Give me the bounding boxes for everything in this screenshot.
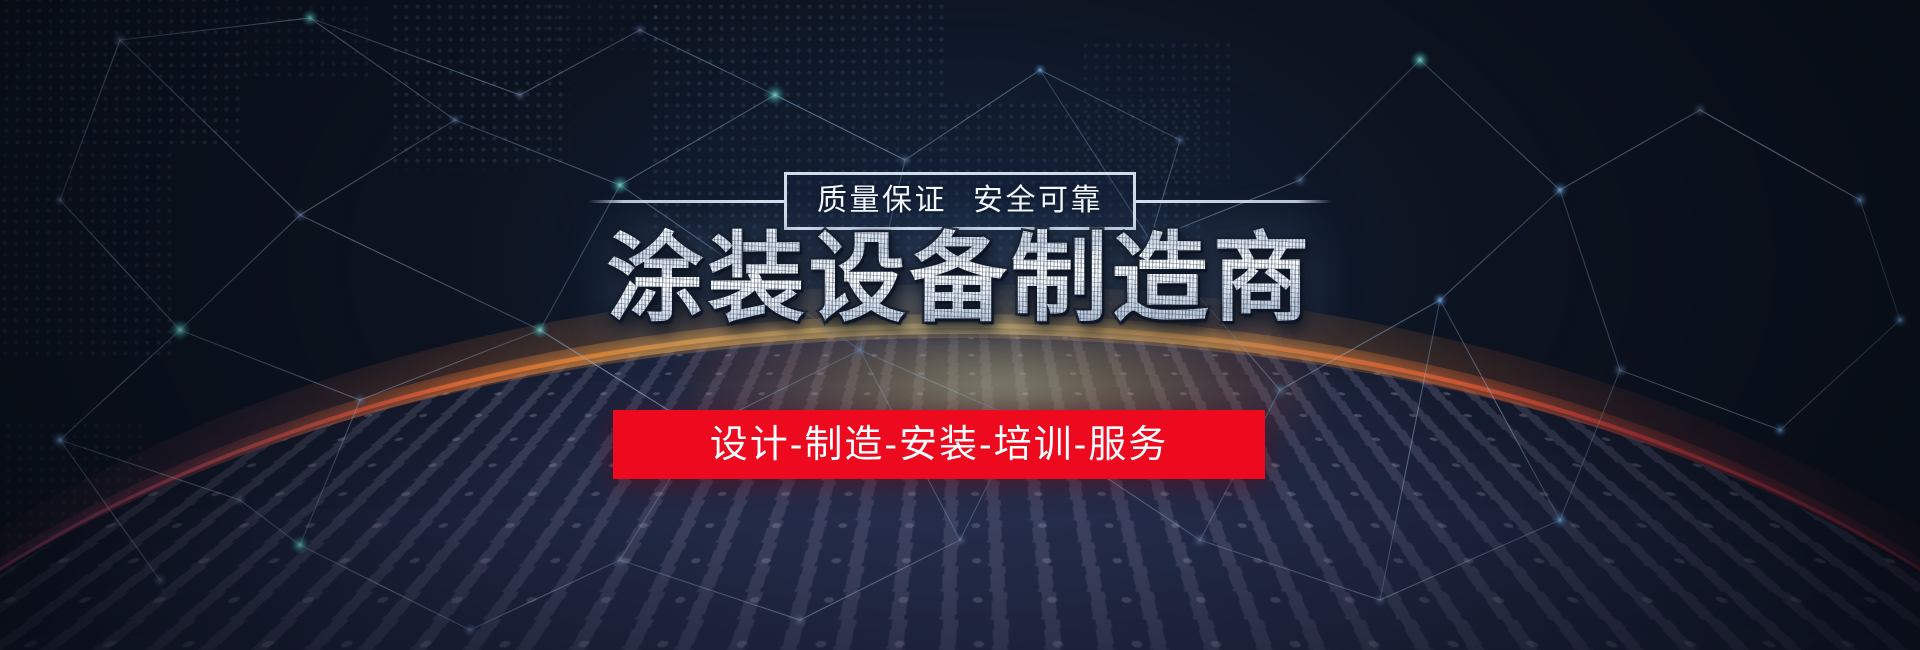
eyebrow-rule-left [588, 200, 784, 203]
globe-rim-glow [0, 314, 1920, 650]
globe-rim-light [0, 323, 1920, 650]
banner-content: 质量保证 安全可靠 涂装设备制造商 涂装设备制造商 涂装设备制造商 设计-制造-… [0, 0, 1920, 650]
globe-dot-grid [0, 330, 1920, 650]
eyebrow-item-safety: 安全可靠 [973, 186, 1103, 216]
services-bar: 设计-制造-安装-培训-服务 [613, 410, 1265, 479]
eyebrow-rule-right [1136, 200, 1332, 203]
hero-banner: 质量保证 安全可靠 涂装设备制造商 涂装设备制造商 涂装设备制造商 设计-制造-… [0, 0, 1920, 650]
globe-surface [0, 330, 1920, 650]
services-bar-label: 设计-制造-安装-培训-服务 [710, 426, 1169, 464]
page-title-texture: 涂装设备制造商 [0, 222, 1920, 336]
globe-graphic [0, 330, 1920, 650]
eyebrow-item-quality: 质量保证 [817, 186, 947, 216]
